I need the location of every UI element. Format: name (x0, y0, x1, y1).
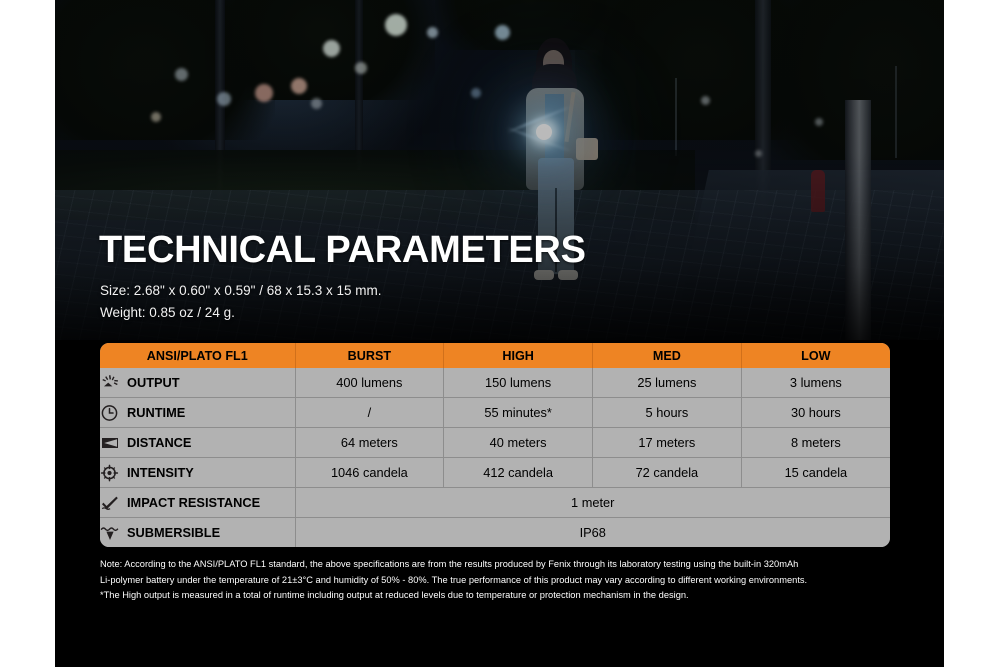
column-header-burst: BURST (295, 343, 444, 368)
content-panel: TECHNICAL PARAMETERS Size: 2.68" x 0.60"… (55, 0, 944, 667)
row-label-text: IMPACT RESISTANCE (127, 495, 260, 510)
page-root: TECHNICAL PARAMETERS Size: 2.68" x 0.60"… (0, 0, 1000, 667)
row-label-text: OUTPUT (127, 375, 180, 390)
row-label-text: SUBMERSIBLE (127, 525, 220, 540)
row-label-distance: DISTANCE (100, 428, 295, 458)
footnote-line-2: Li-polymer battery under the temperature… (100, 573, 900, 589)
row-label-output: OUTPUT (100, 368, 295, 398)
cell-high: 40 meters (444, 428, 593, 458)
cell-low: 3 lumens (741, 368, 890, 398)
cell-low: 8 meters (741, 428, 890, 458)
footnote-line-1: Note: According to the ANSI/PLATO FL1 st… (100, 557, 900, 573)
cell-med: 72 candela (593, 458, 742, 488)
cell-high: 55 minutes* (444, 398, 593, 428)
column-header-low: LOW (741, 343, 890, 368)
cell-med: 17 meters (593, 428, 742, 458)
beam-distance-icon (100, 434, 120, 452)
cell-burst: 64 meters (295, 428, 444, 458)
weight-line: Weight: 0.85 oz / 24 g. (100, 305, 235, 320)
footnote: Note: According to the ANSI/PLATO FL1 st… (100, 557, 900, 604)
cell-low: 15 candela (741, 458, 890, 488)
column-header-high: HIGH (444, 343, 593, 368)
table-row: SUBMERSIBLE IP68 (100, 518, 890, 548)
row-label-text: RUNTIME (127, 405, 185, 420)
cell-high: 150 lumens (444, 368, 593, 398)
table-row: OUTPUT 400 lumens 150 lumens 25 lumens 3… (100, 368, 890, 398)
clock-icon (100, 404, 120, 422)
row-label-text: DISTANCE (127, 435, 191, 450)
size-line: Size: 2.68" x 0.60" x 0.59" / 68 x 15.3 … (100, 283, 382, 298)
technical-parameters-table: ANSI/PLATO FL1 BURST HIGH MED LOW (100, 343, 890, 547)
table-row: IMPACT RESISTANCE 1 meter (100, 488, 890, 518)
cell-low: 30 hours (741, 398, 890, 428)
table-row: DISTANCE 64 meters 40 meters 17 meters 8… (100, 428, 890, 458)
cell-med: 5 hours (593, 398, 742, 428)
crosshair-intensity-icon (100, 464, 120, 482)
row-label-impact-resistance: IMPACT RESISTANCE (100, 488, 295, 518)
cell-submersible-value: IP68 (295, 518, 890, 548)
cell-med: 25 lumens (593, 368, 742, 398)
cell-burst: / (295, 398, 444, 428)
cell-high: 412 candela (444, 458, 593, 488)
row-label-runtime: RUNTIME (100, 398, 295, 428)
table-header-row: ANSI/PLATO FL1 BURST HIGH MED LOW (100, 343, 890, 368)
row-label-submersible: SUBMERSIBLE (100, 518, 295, 548)
row-label-intensity: INTENSITY (100, 458, 295, 488)
cell-burst: 1046 candela (295, 458, 444, 488)
cell-burst: 400 lumens (295, 368, 444, 398)
table-row: INTENSITY 1046 candela 412 candela 72 ca… (100, 458, 890, 488)
impact-resistance-icon (100, 494, 120, 512)
footnote-line-3: *The High output is measured in a total … (100, 588, 900, 604)
page-title: TECHNICAL PARAMETERS (99, 231, 586, 269)
table-row: RUNTIME / 55 minutes* 5 hours 30 hours (100, 398, 890, 428)
column-header-standard: ANSI/PLATO FL1 (100, 343, 295, 368)
cell-impact-value: 1 meter (295, 488, 890, 518)
light-burst-icon (100, 374, 120, 392)
submersible-icon (100, 524, 120, 542)
column-header-med: MED (593, 343, 742, 368)
row-label-text: INTENSITY (127, 465, 194, 480)
